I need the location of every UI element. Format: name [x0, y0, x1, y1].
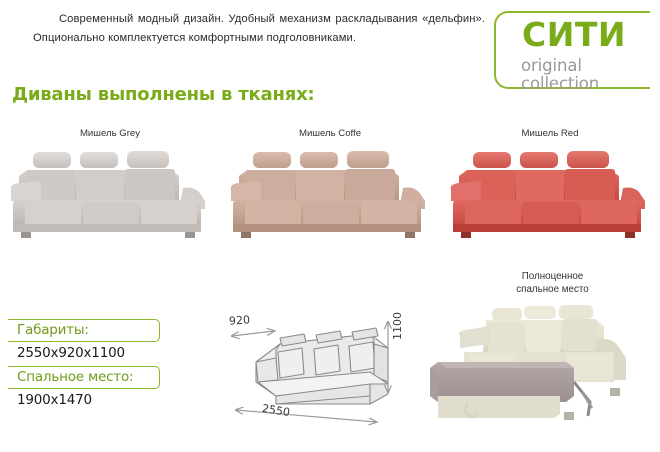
logo-title: СИТИ — [522, 18, 626, 52]
unfolded-sofa-bed-icon — [424, 300, 652, 445]
sofa-grey-icon — [5, 142, 215, 252]
fabric-label: Мишель Grey — [0, 128, 220, 139]
caption-line-1: Полноценное — [522, 271, 584, 282]
spec-value-sleeping-area: 1900x1470 — [17, 392, 92, 408]
right-edge-mask — [650, 0, 660, 452]
fabric-item-red: Мишель Red — [440, 128, 660, 253]
sleeping-place-caption: Полноценное спальное место — [470, 271, 635, 296]
caption-line-2: спальное место — [516, 284, 588, 295]
sofa-red-icon — [445, 142, 655, 252]
logo-subtitle: original collection — [521, 57, 660, 93]
fabric-label: Мишель Red — [440, 128, 660, 139]
spec-value-dimensions: 2550x920x1100 — [17, 345, 125, 361]
spec-label-sleeping-area: Спальное место: — [17, 369, 133, 385]
fabric-label: Мишель Coffe — [220, 128, 440, 139]
fabric-item-grey: Мишель Grey — [0, 128, 220, 253]
sofa-coffee-icon — [225, 142, 435, 252]
dimension-depth-label: 920 — [229, 313, 251, 327]
intro-paragraph: Современный модный дизайн. Удобный механ… — [33, 10, 485, 48]
page-title: Диваны выполнены в тканях: — [12, 84, 315, 105]
dimension-height-label: 1100 — [391, 312, 404, 340]
spec-label-dimensions: Габариты: — [17, 322, 89, 338]
product-spec-page: Современный модный дизайн. Удобный механ… — [0, 0, 660, 452]
fabric-variants-row: Мишель Grey — [0, 128, 660, 253]
fabric-item-coffee: Мишель Coffe — [220, 128, 440, 253]
